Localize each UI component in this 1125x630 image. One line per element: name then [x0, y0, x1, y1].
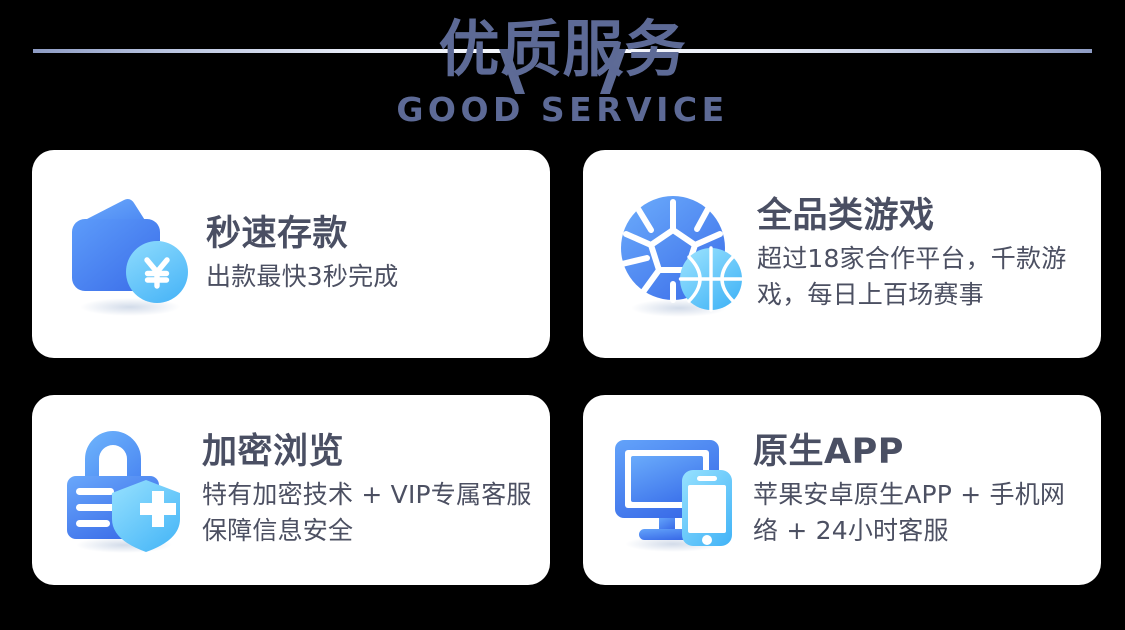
feature-card-desc: 出款最快3秒完成: [206, 259, 536, 295]
soccer-basketball-icon: [613, 188, 745, 320]
feature-card-title: 全品类游戏: [757, 195, 1087, 237]
feature-card-title: 原生APP: [753, 431, 1087, 473]
promo-banner: 优质服务 GOOD SERVICE: [0, 0, 1125, 630]
feature-card-games[interactable]: 全品类游戏 超过18家合作平台，千款游戏，每日上百场赛事: [583, 150, 1101, 358]
feature-card-grid: 秒速存款 出款最快3秒完成: [32, 150, 1093, 585]
page-title: 优质服务: [0, 0, 1125, 86]
monitor-phone-icon: [609, 424, 741, 556]
banner-header: 优质服务 GOOD SERVICE: [0, 0, 1125, 150]
feature-card-title: 加密浏览: [202, 431, 536, 473]
feature-card-text: 全品类游戏 超过18家合作平台，千款游戏，每日上百场赛事: [757, 195, 1087, 313]
feature-card-encryption[interactable]: 加密浏览 特有加密技术 + VIP专属客服保障信息安全: [32, 395, 550, 585]
feature-card-title: 秒速存款: [206, 213, 536, 255]
feature-card-native-app[interactable]: 原生APP 苹果安卓原生APP + 手机网络 + 24小时客服: [583, 395, 1101, 585]
page-subtitle: GOOD SERVICE: [0, 86, 1125, 129]
feature-card-desc: 超过18家合作平台，千款游戏，每日上百场赛事: [757, 241, 1087, 313]
header-title-group: 优质服务 GOOD SERVICE: [0, 0, 1125, 129]
feature-card-text: 加密浏览 特有加密技术 + VIP专属客服保障信息安全: [202, 431, 536, 549]
feature-card-deposit[interactable]: 秒速存款 出款最快3秒完成: [32, 150, 550, 358]
feature-card-desc: 特有加密技术 + VIP专属客服保障信息安全: [202, 477, 536, 549]
feature-card-desc: 苹果安卓原生APP + 手机网络 + 24小时客服: [753, 477, 1087, 549]
feature-card-text: 秒速存款 出款最快3秒完成: [206, 213, 536, 295]
feature-card-text: 原生APP 苹果安卓原生APP + 手机网络 + 24小时客服: [753, 431, 1087, 549]
wallet-yen-icon: [62, 188, 194, 320]
lock-shield-icon: [58, 424, 190, 556]
